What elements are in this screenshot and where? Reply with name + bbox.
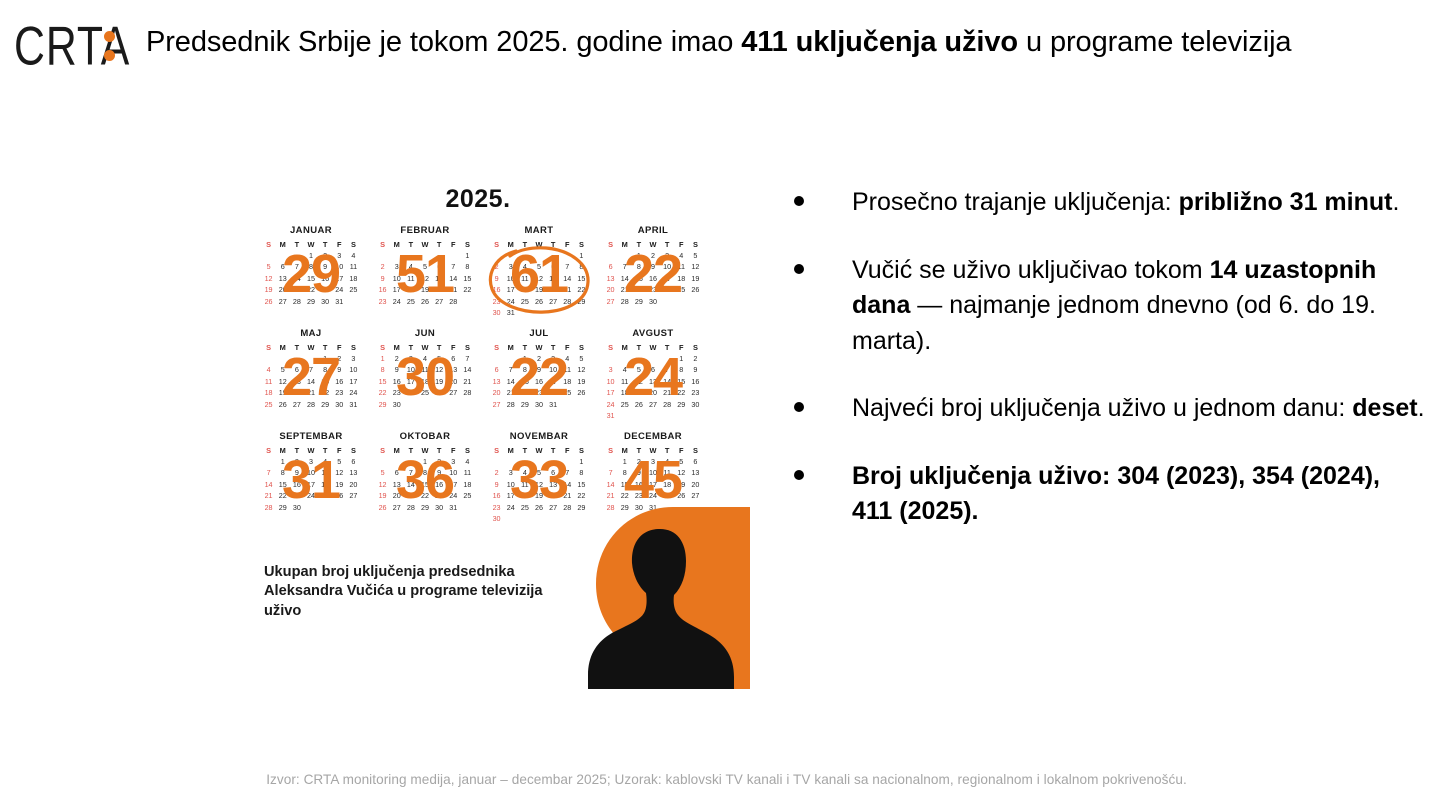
calendar-month-april: APRILSMTWTFS 123456789101112131415161718… <box>596 225 710 328</box>
day-cell: 1 <box>304 251 318 260</box>
day-cell: 3 <box>504 262 518 271</box>
day-cell: 10 <box>546 365 560 374</box>
month-days-grid: 1234567891011121314151617181920212223242… <box>604 354 703 420</box>
day-cell: 13 <box>432 274 446 283</box>
day-cell: 3 <box>646 457 660 466</box>
day-cell: 7 <box>660 365 674 374</box>
day-cell: 1 <box>632 251 646 260</box>
day-cell: 26 <box>532 503 546 512</box>
day-cell: 11 <box>262 377 276 386</box>
day-cell: 30 <box>332 400 346 409</box>
day-cell: 14 <box>262 480 276 489</box>
weekday-header-cell: S <box>376 240 390 249</box>
day-cell: 29 <box>376 400 390 409</box>
day-cell: 2 <box>390 354 404 363</box>
day-cell: 11 <box>404 274 418 283</box>
day-cell: 18 <box>460 480 474 489</box>
day-cell: 27 <box>546 503 560 512</box>
day-cell: 4 <box>346 251 360 260</box>
day-cell: 18 <box>660 480 674 489</box>
month-name-label: NOVEMBAR <box>482 431 596 442</box>
day-cell-empty <box>518 251 532 260</box>
month-days-grid: 1234567891011121314151617181920212223242… <box>262 251 361 306</box>
day-cell: 19 <box>674 480 688 489</box>
day-cell: 14 <box>618 274 632 283</box>
weekday-header-cell: T <box>660 343 674 352</box>
day-cell-empty <box>404 251 418 260</box>
day-cell: 10 <box>604 377 618 386</box>
weekday-header-cell: M <box>504 240 518 249</box>
calendar-month-avgust: AVGUSTSMTWTFS 12345678910111213141516171… <box>596 328 710 431</box>
month-name-label: APRIL <box>596 225 710 236</box>
day-cell: 13 <box>604 274 618 283</box>
day-cell-empty <box>262 251 276 260</box>
day-cell: 5 <box>674 457 688 466</box>
day-cell: 13 <box>490 377 504 386</box>
day-cell: 18 <box>518 285 532 294</box>
day-cell: 11 <box>346 262 360 271</box>
crta-logo-colon-icon <box>104 28 118 64</box>
month-name-label: AVGUST <box>596 328 710 339</box>
day-cell: 26 <box>674 491 688 500</box>
weekday-header-cell: W <box>646 446 660 455</box>
day-cell: 21 <box>460 377 474 386</box>
day-cell: 26 <box>276 400 290 409</box>
weekday-header-cell: T <box>632 446 646 455</box>
month-days-grid: 1234567891011121314151617181920212223242… <box>376 354 475 409</box>
day-cell: 4 <box>460 457 474 466</box>
weekday-header-row: SMTWTFS <box>604 343 703 352</box>
day-cell: 8 <box>304 262 318 271</box>
day-cell: 22 <box>276 491 290 500</box>
day-cell: 26 <box>262 297 276 306</box>
bullet-dot-icon <box>794 470 804 480</box>
weekday-header-cell: T <box>432 446 446 455</box>
weekday-header-cell: S <box>574 343 588 352</box>
weekday-header-cell: M <box>390 343 404 352</box>
day-cell: 7 <box>460 354 474 363</box>
month-name-label: OKTOBAR <box>368 431 482 442</box>
day-cell: 30 <box>646 297 660 306</box>
weekday-header-cell: T <box>318 446 332 455</box>
day-cell: 28 <box>460 388 474 397</box>
day-cell: 19 <box>532 491 546 500</box>
weekday-header-cell: T <box>546 446 560 455</box>
weekday-header-cell: S <box>688 446 702 455</box>
day-cell: 3 <box>390 262 404 271</box>
day-cell-empty <box>390 457 404 466</box>
weekday-header-cell: M <box>276 240 290 249</box>
month-days-grid: 1234567891011121314151617181920212223242… <box>604 457 703 512</box>
weekday-header-cell: M <box>618 343 632 352</box>
day-cell: 4 <box>674 251 688 260</box>
day-cell: 24 <box>504 503 518 512</box>
weekday-header-cell: S <box>460 343 474 352</box>
day-cell: 27 <box>276 297 290 306</box>
day-cell: 21 <box>504 388 518 397</box>
day-cell: 21 <box>660 388 674 397</box>
bullet-dot-icon <box>794 402 804 412</box>
day-cell: 7 <box>446 262 460 271</box>
weekday-header-cell: T <box>318 240 332 249</box>
day-cell: 11 <box>618 377 632 386</box>
month-name-label: MAJ <box>254 328 368 339</box>
day-cell: 18 <box>518 491 532 500</box>
bullet-text-lead: Najveći broj uključenja uživo u jednom d… <box>852 394 1352 422</box>
weekday-header-cell: W <box>532 240 546 249</box>
day-cell: 14 <box>304 377 318 386</box>
day-cell: 7 <box>604 468 618 477</box>
day-cell: 22 <box>632 285 646 294</box>
day-cell: 25 <box>518 297 532 306</box>
day-cell: 4 <box>518 262 532 271</box>
list-item: Najveći broj uključenja uživo u jednom d… <box>786 391 1426 427</box>
bullet-text-tail: . <box>1392 188 1399 216</box>
month-days-grid: 1234567891011121314151617181920212223242… <box>262 457 361 512</box>
weekday-header-cell: M <box>504 446 518 455</box>
month-days-grid: 1234567891011121314151617181920212223242… <box>604 251 703 306</box>
day-cell: 19 <box>574 377 588 386</box>
day-cell: 17 <box>390 285 404 294</box>
day-cell: 25 <box>318 491 332 500</box>
day-cell: 8 <box>518 365 532 374</box>
day-cell: 16 <box>290 480 304 489</box>
day-cell: 6 <box>546 262 560 271</box>
day-cell: 2 <box>318 251 332 260</box>
day-cell: 20 <box>390 491 404 500</box>
day-cell: 19 <box>332 480 346 489</box>
day-cell: 1 <box>674 354 688 363</box>
day-cell: 4 <box>660 457 674 466</box>
day-cell: 8 <box>276 468 290 477</box>
day-cell: 18 <box>318 480 332 489</box>
day-cell: 4 <box>404 262 418 271</box>
day-cell: 17 <box>446 480 460 489</box>
day-cell: 15 <box>518 377 532 386</box>
day-cell: 9 <box>432 468 446 477</box>
day-cell: 17 <box>332 274 346 283</box>
slide-header: CRTA Predsednik Srbije je tokom 2025. go… <box>0 0 1453 95</box>
day-cell: 8 <box>632 262 646 271</box>
day-cell: 14 <box>446 274 460 283</box>
weekday-header-row: SMTWTFS <box>262 446 361 455</box>
weekday-header-cell: F <box>446 240 460 249</box>
day-cell: 7 <box>290 262 304 271</box>
day-cell: 11 <box>674 262 688 271</box>
month-name-label: JUL <box>482 328 596 339</box>
day-cell-empty <box>404 457 418 466</box>
weekday-header-cell: S <box>490 343 504 352</box>
weekday-header-cell: S <box>688 343 702 352</box>
day-cell: 16 <box>688 377 702 386</box>
day-cell: 28 <box>404 503 418 512</box>
day-cell: 8 <box>574 468 588 477</box>
month-days-grid: 1234567891011121314151617181920212223242… <box>490 457 589 523</box>
day-cell: 29 <box>674 400 688 409</box>
day-cell: 21 <box>560 285 574 294</box>
day-cell-empty <box>276 354 290 363</box>
day-cell: 23 <box>646 285 660 294</box>
day-cell: 15 <box>618 480 632 489</box>
day-cell-empty <box>618 251 632 260</box>
day-cell-empty <box>532 457 546 466</box>
day-cell: 5 <box>262 262 276 271</box>
day-cell: 27 <box>490 400 504 409</box>
weekday-header-cell: S <box>490 240 504 249</box>
day-cell: 28 <box>304 400 318 409</box>
day-cell: 21 <box>446 285 460 294</box>
day-cell: 25 <box>560 388 574 397</box>
day-cell: 19 <box>688 274 702 283</box>
day-cell: 12 <box>532 480 546 489</box>
day-cell: 30 <box>390 400 404 409</box>
weekday-header-cell: S <box>460 446 474 455</box>
day-cell: 27 <box>346 491 360 500</box>
day-cell: 6 <box>646 365 660 374</box>
day-cell: 17 <box>604 388 618 397</box>
weekday-header-cell: W <box>304 343 318 352</box>
weekday-header-row: SMTWTFS <box>490 446 589 455</box>
day-cell: 10 <box>504 480 518 489</box>
day-cell: 8 <box>574 262 588 271</box>
day-cell: 5 <box>632 365 646 374</box>
logo-dot-bottom-icon <box>104 50 115 61</box>
day-cell: 21 <box>304 388 318 397</box>
day-cell-empty <box>604 251 618 260</box>
month-days-grid: 1234567891011121314151617181920212223242… <box>376 251 475 306</box>
weekday-header-cell: F <box>560 240 574 249</box>
day-cell: 24 <box>504 297 518 306</box>
day-cell: 10 <box>660 262 674 271</box>
weekday-header-cell: T <box>518 240 532 249</box>
day-cell: 20 <box>688 480 702 489</box>
calendar-year-label: 2025. <box>208 185 748 214</box>
day-cell: 23 <box>318 285 332 294</box>
day-cell: 17 <box>546 377 560 386</box>
weekday-header-cell: M <box>276 343 290 352</box>
day-cell: 12 <box>532 274 546 283</box>
day-cell: 22 <box>574 285 588 294</box>
page-title-highlight: 411 uključenja uživo <box>741 26 1018 58</box>
calendar-month-oktobar: OKTOBARSMTWTFS 1234567891011121314151617… <box>368 431 482 534</box>
day-cell: 24 <box>390 297 404 306</box>
day-cell: 15 <box>460 274 474 283</box>
weekday-header-cell: T <box>318 343 332 352</box>
day-cell: 23 <box>290 491 304 500</box>
day-cell: 26 <box>332 491 346 500</box>
day-cell: 14 <box>290 274 304 283</box>
day-cell: 5 <box>276 365 290 374</box>
day-cell: 21 <box>560 491 574 500</box>
weekday-header-cell: S <box>574 446 588 455</box>
day-cell: 2 <box>332 354 346 363</box>
day-cell-empty <box>504 457 518 466</box>
day-cell: 10 <box>304 468 318 477</box>
day-cell: 28 <box>560 503 574 512</box>
calendar-caption: Ukupan broj uključenja predsednika Aleks… <box>264 563 564 621</box>
day-cell: 6 <box>490 365 504 374</box>
day-cell: 1 <box>276 457 290 466</box>
day-cell-empty <box>604 354 618 363</box>
day-cell: 31 <box>604 411 618 420</box>
weekday-header-cell: S <box>688 240 702 249</box>
day-cell: 16 <box>532 377 546 386</box>
day-cell: 16 <box>490 285 504 294</box>
day-cell: 20 <box>432 285 446 294</box>
day-cell: 2 <box>432 457 446 466</box>
weekday-header-cell: W <box>304 446 318 455</box>
weekday-header-cell: S <box>460 240 474 249</box>
bullet-dot-icon <box>794 196 804 206</box>
weekday-header-cell: T <box>660 240 674 249</box>
day-cell: 28 <box>290 297 304 306</box>
day-cell: 7 <box>560 468 574 477</box>
day-cell: 13 <box>290 377 304 386</box>
day-cell-empty <box>490 251 504 260</box>
weekday-header-cell: T <box>546 240 560 249</box>
weekday-header-cell: S <box>346 343 360 352</box>
day-cell: 19 <box>632 388 646 397</box>
day-cell: 27 <box>546 297 560 306</box>
day-cell: 13 <box>446 365 460 374</box>
day-cell: 21 <box>404 491 418 500</box>
calendar-month-februar: FEBRUARSMTWTFS 1234567891011121314151617… <box>368 225 482 328</box>
day-cell: 21 <box>604 491 618 500</box>
day-cell: 26 <box>632 400 646 409</box>
weekday-header-cell: T <box>432 343 446 352</box>
day-cell: 23 <box>490 297 504 306</box>
day-cell: 5 <box>332 457 346 466</box>
weekday-header-row: SMTWTFS <box>376 343 475 352</box>
day-cell: 2 <box>646 251 660 260</box>
day-cell-empty <box>660 354 674 363</box>
day-cell: 6 <box>446 354 460 363</box>
weekday-header-cell: W <box>304 240 318 249</box>
day-cell: 31 <box>446 503 460 512</box>
day-cell: 23 <box>632 491 646 500</box>
day-cell: 2 <box>490 262 504 271</box>
day-cell: 15 <box>318 377 332 386</box>
day-cell: 9 <box>390 365 404 374</box>
day-cell: 11 <box>518 274 532 283</box>
calendar-month-maj: MAJSMTWTFS 12345678910111213141516171819… <box>254 328 368 431</box>
weekday-header-cell: T <box>546 343 560 352</box>
day-cell: 26 <box>574 388 588 397</box>
day-cell-empty <box>304 354 318 363</box>
day-cell-empty <box>618 354 632 363</box>
weekday-header-cell: S <box>346 240 360 249</box>
day-cell: 23 <box>376 297 390 306</box>
weekday-header-cell: T <box>290 343 304 352</box>
day-cell: 15 <box>674 377 688 386</box>
month-name-label: JANUAR <box>254 225 368 236</box>
key-findings-list: Prosečno trajanje uključenja: približno … <box>786 185 1426 562</box>
day-cell: 24 <box>446 491 460 500</box>
bullet-dot-icon <box>794 264 804 274</box>
day-cell: 4 <box>262 365 276 374</box>
weekday-header-cell: F <box>332 343 346 352</box>
weekday-header-cell: F <box>332 240 346 249</box>
day-cell: 8 <box>674 365 688 374</box>
day-cell: 3 <box>660 251 674 260</box>
day-cell: 15 <box>304 274 318 283</box>
weekday-header-cell: T <box>632 240 646 249</box>
weekday-header-cell: W <box>532 446 546 455</box>
day-cell: 30 <box>432 503 446 512</box>
month-name-label: JUN <box>368 328 482 339</box>
bullet-text-lead: Vučić se uživo uključivao tokom <box>852 256 1210 284</box>
day-cell: 24 <box>304 491 318 500</box>
calendar-month-januar: JANUARSMTWTFS 12345678910111213141516171… <box>254 225 368 328</box>
day-cell: 18 <box>418 377 432 386</box>
day-cell: 18 <box>346 274 360 283</box>
weekday-header-cell: F <box>674 240 688 249</box>
day-cell-empty <box>632 354 646 363</box>
day-cell: 20 <box>646 388 660 397</box>
day-cell: 30 <box>490 514 504 523</box>
day-cell: 15 <box>276 480 290 489</box>
day-cell: 31 <box>504 308 518 317</box>
day-cell: 4 <box>418 354 432 363</box>
day-cell: 9 <box>688 365 702 374</box>
day-cell: 28 <box>660 400 674 409</box>
day-cell: 22 <box>674 388 688 397</box>
weekday-header-cell: T <box>290 446 304 455</box>
day-cell: 16 <box>646 274 660 283</box>
day-cell: 14 <box>560 274 574 283</box>
day-cell: 23 <box>332 388 346 397</box>
day-cell: 8 <box>460 262 474 271</box>
day-cell: 19 <box>532 285 546 294</box>
day-cell: 28 <box>618 297 632 306</box>
day-cell: 31 <box>546 400 560 409</box>
weekday-header-cell: W <box>646 240 660 249</box>
day-cell: 14 <box>504 377 518 386</box>
day-cell: 15 <box>574 480 588 489</box>
day-cell: 31 <box>346 400 360 409</box>
weekday-header-cell: S <box>604 240 618 249</box>
day-cell: 15 <box>376 377 390 386</box>
day-cell: 16 <box>432 480 446 489</box>
day-cell: 29 <box>304 297 318 306</box>
bullet-text-tail: — najmanje jednom dnevno (od 6. do 19. m… <box>852 291 1376 355</box>
day-cell: 29 <box>276 503 290 512</box>
bullet-text-emphasis: približno 31 minut <box>1179 188 1393 216</box>
day-cell: 23 <box>688 388 702 397</box>
calendar-month-jun: JUNSMTWTFS123456789101112131415161718192… <box>368 328 482 431</box>
president-silhouette-illustration <box>578 507 750 689</box>
day-cell: 6 <box>346 457 360 466</box>
day-cell: 25 <box>460 491 474 500</box>
day-cell: 13 <box>390 480 404 489</box>
day-cell: 3 <box>446 457 460 466</box>
day-cell: 5 <box>532 468 546 477</box>
calendar-month-jul: JULSMTWTFS 12345678910111213141516171819… <box>482 328 596 431</box>
day-cell: 6 <box>604 262 618 271</box>
month-days-grid: 1234567891011121314151617181920212223242… <box>490 251 589 317</box>
weekday-header-cell: M <box>276 446 290 455</box>
weekday-header-cell: W <box>418 446 432 455</box>
day-cell: 20 <box>446 377 460 386</box>
day-cell: 7 <box>404 468 418 477</box>
day-cell: 6 <box>276 262 290 271</box>
day-cell: 9 <box>332 365 346 374</box>
day-cell: 11 <box>418 365 432 374</box>
day-cell: 2 <box>532 354 546 363</box>
weekday-header-cell: F <box>332 446 346 455</box>
weekday-header-cell: F <box>446 446 460 455</box>
month-name-label: FEBRUAR <box>368 225 482 236</box>
